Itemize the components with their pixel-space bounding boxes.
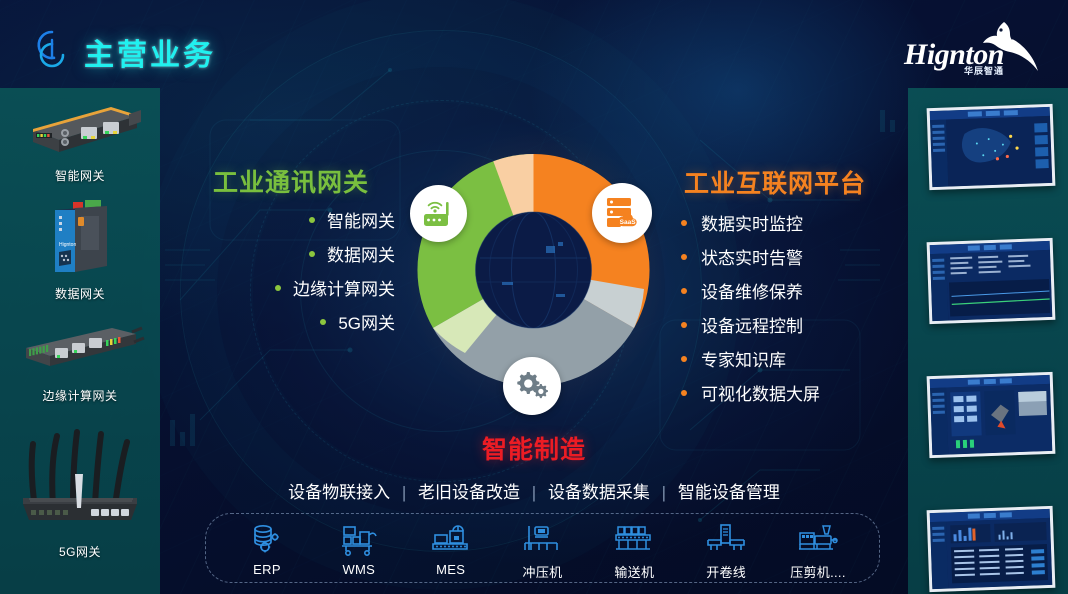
list-item[interactable]: 5G网关 [200,309,395,334]
left-column-list: 智能网关 数据网关 边缘计算网关 5G网关 [200,207,395,343]
slide-root: 主营业务 Hignton 华辰智通 [0,0,1068,594]
left-product-panel: 智能网关 Hignton [0,88,160,594]
equipment-item-uncoiling[interactable]: 开卷线 [683,522,769,581]
equipment-item-stamping[interactable]: 冲压机 [499,522,585,581]
right-screenshot-panel [908,88,1068,594]
donut-center-sphere [476,212,592,328]
separator: | [662,483,666,502]
equipment-label: 开卷线 [683,562,769,581]
dashboard-screenshot-3[interactable] [927,506,1056,592]
stamping-machine-icon [499,522,585,558]
product-item-1[interactable]: Hignton 数据网关 [0,188,160,302]
equipment-label: 冲压机 [499,562,585,581]
equipment-item-wms[interactable]: WMS [316,522,402,577]
list-item-label: 可视化数据大屏 [701,380,820,405]
edge-computing-gateway-device-photo [12,316,148,378]
product-item-2[interactable]: 边缘计算网关 [0,316,160,404]
product-label: 5G网关 [0,543,160,560]
circles-logo-icon [30,28,74,70]
product-item-0[interactable]: 智能网关 [0,94,160,184]
capability-subtitle-row: 设备物联接入 | 老旧设备改造 | 设备数据采集 | 智能设备管理 [160,478,908,503]
bullet-dot-icon [681,390,687,396]
page-header: 主营业务 Hignton 华辰智通 [0,0,1068,88]
capability-item: 设备数据采集 [548,483,650,502]
capability-item: 设备物联接入 [288,483,390,502]
equipment-strip: ERP WMS [205,513,880,583]
warehouse-cart-icon [316,522,402,558]
separator: | [532,483,536,502]
equipment-item-mes[interactable]: MES [408,522,494,577]
list-item[interactable]: 专家知识库 [681,346,911,371]
list-item-label: 智能网关 [327,207,395,232]
equipment-item-erp[interactable]: ERP [224,522,310,577]
data-gateway-device-photo: Hignton [25,188,135,276]
left-column-heading: 工业通讯网关 [213,163,369,199]
brand-sub-name: 华辰智通 [964,64,1004,77]
list-item-label: 5G网关 [338,309,395,334]
badge-saas-server[interactable]: SaaS [592,183,652,243]
equipment-label: 输送机 [591,562,677,581]
shearing-machine-icon [775,522,861,558]
capability-item: 老旧设备改造 [418,483,520,502]
badge-router[interactable] [410,185,467,242]
list-item-label: 边缘计算网关 [293,275,395,300]
product-label: 边缘计算网关 [0,387,160,404]
bullet-dot-icon [681,288,687,294]
right-column-heading: 工业互联网平台 [684,164,866,200]
product-label: 智能网关 [0,167,160,184]
list-item-label: 数据实时监控 [701,210,803,235]
list-item-label: 数据网关 [327,241,395,266]
list-item[interactable]: 数据实时监控 [681,210,911,235]
router-icon [422,199,456,229]
conveyor-belt-icon [591,522,677,558]
list-item-label: 设备远程控制 [701,312,803,337]
list-item[interactable]: 智能网关 [200,207,395,232]
bullet-dot-icon [275,285,281,291]
conveyor-production-icon [408,522,494,558]
saas-label: SaaS [620,219,637,226]
list-item[interactable]: 可视化数据大屏 [681,380,911,405]
dashboard-screenshot-0[interactable] [927,104,1056,190]
svg-text:Hignton: Hignton [59,242,76,248]
list-item[interactable]: 设备远程控制 [681,312,911,337]
list-item-label: 专家知识库 [701,346,786,371]
badge-gears[interactable] [503,357,561,415]
saas-server-icon: SaaS [604,196,640,230]
equipment-item-conveyor[interactable]: 输送机 [591,522,677,581]
bullet-dot-icon [309,251,315,257]
separator: | [402,483,406,502]
right-column-list: 数据实时监控 状态实时告警 设备维修保养 设备远程控制 专家知识库 可视化数据大… [681,210,911,414]
bullet-dot-icon [681,356,687,362]
bullet-dot-icon [681,254,687,260]
equipment-label: 压剪机.... [775,562,861,581]
page-title: 主营业务 [84,30,216,74]
dashboard-screenshot-1[interactable] [927,238,1056,324]
gears-icon [515,370,549,402]
smart-manufacturing-title: 智能制造 [0,430,1068,466]
bullet-dot-icon [309,217,315,223]
list-item[interactable]: 设备维修保养 [681,278,911,303]
equipment-label: WMS [316,562,402,577]
list-item[interactable]: 边缘计算网关 [200,275,395,300]
equipment-item-shearing[interactable]: 压剪机.... [775,522,861,581]
bullet-dot-icon [681,322,687,328]
uncoiling-line-icon [683,522,769,558]
capability-item: 智能设备管理 [678,483,780,502]
product-label: 数据网关 [0,285,160,302]
list-item[interactable]: 状态实时告警 [681,244,911,269]
list-item-label: 设备维修保养 [701,278,803,303]
smart-gateway-device-photo [15,94,145,158]
brand-logo: Hignton 华辰智通 [900,16,1050,78]
list-item[interactable]: 数据网关 [200,241,395,266]
database-gears-icon [224,522,310,558]
equipment-label: ERP [224,562,310,577]
bullet-dot-icon [681,220,687,226]
list-item-label: 状态实时告警 [701,244,803,269]
bullet-dot-icon [320,319,326,325]
equipment-label: MES [408,562,494,577]
